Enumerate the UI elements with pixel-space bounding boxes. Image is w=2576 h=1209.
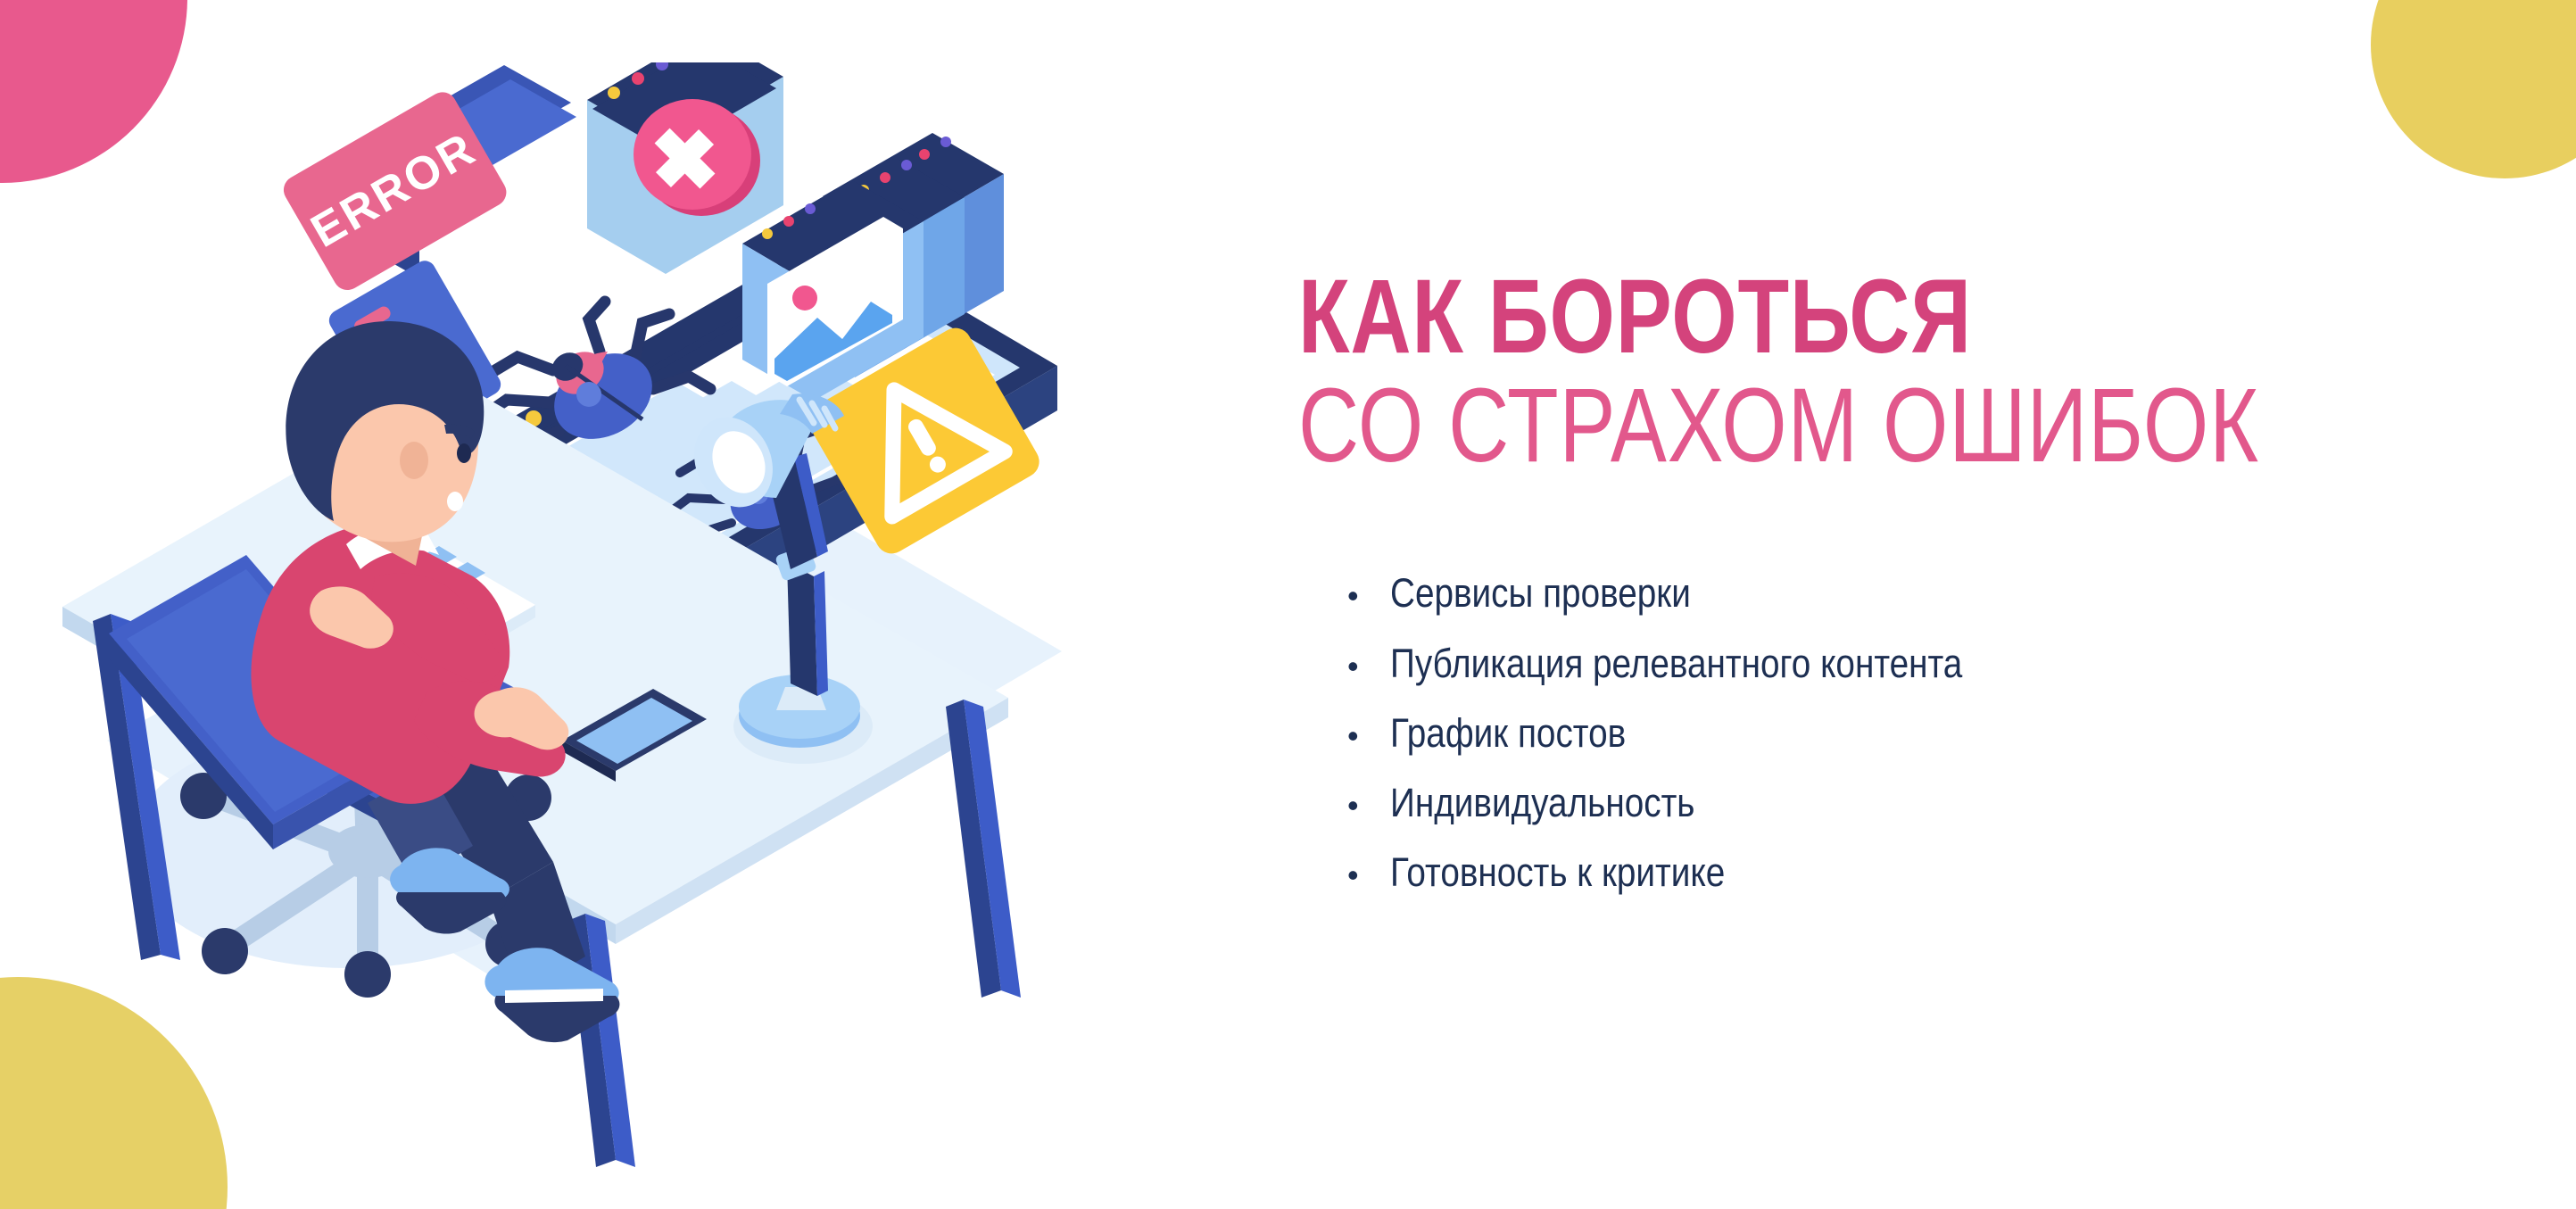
bullet-label: Готовность к критике (1390, 851, 1725, 893)
bullet-label: Индивидуальность (1390, 782, 1694, 824)
eye (457, 443, 471, 463)
caster (344, 951, 391, 998)
text-panel: КАК БОРОТЬСЯ СО СТРАХОМ ОШИБОК • Сервисы… (1298, 268, 2530, 922)
list-item: • Готовность к критике (1347, 851, 2530, 893)
slide-canvas: ERROR (0, 0, 2576, 1209)
list-item: • Индивидуальность (1347, 782, 2530, 824)
headline-line-2: СО СТРАХОМ ОШИБОК (1298, 372, 2283, 479)
bullet-label: Сервисы проверки (1390, 572, 1691, 614)
decor-circle-top-right (2371, 0, 2576, 178)
sun-icon (792, 286, 817, 311)
bullet-list: • Сервисы проверки • Публикация релевант… (1347, 572, 2530, 893)
headline-line-1: КАК БОРОТЬСЯ (1298, 268, 2283, 367)
bullet-marker-icon: • (1347, 580, 1390, 612)
illustration-developer-at-desk: ERROR (54, 62, 1106, 1169)
caster (202, 928, 248, 974)
list-item: • Публикация релевантного контента (1347, 642, 2530, 684)
ear (400, 442, 428, 479)
bullet-label: Публикация релевантного контента (1390, 642, 1962, 684)
mouth (447, 492, 463, 511)
bullet-marker-icon: • (1347, 720, 1390, 752)
bullet-marker-icon: • (1347, 650, 1390, 683)
list-item: • Сервисы проверки (1347, 572, 2530, 614)
list-item: • График постов (1347, 712, 2530, 754)
bullet-marker-icon: • (1347, 859, 1390, 891)
bullet-marker-icon: • (1347, 790, 1390, 822)
bullet-label: График постов (1390, 712, 1626, 754)
